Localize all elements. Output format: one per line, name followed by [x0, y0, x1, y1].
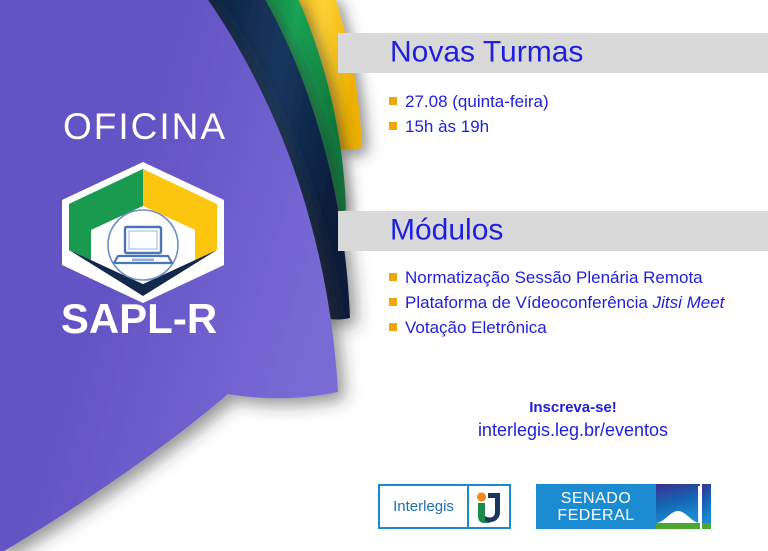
- list-item: 27.08 (quinta-feira): [389, 89, 549, 114]
- interlegis-wordmark-cell: Interlegis: [380, 486, 467, 527]
- interlegis-wordmark: Interlegis: [393, 498, 454, 515]
- cta-url[interactable]: interlegis.leg.br/eventos: [378, 418, 768, 442]
- modulos-list: Normatização Sessão Plenária Remota Plat…: [389, 265, 724, 340]
- sapl-r-wordmark: SAPL-R: [0, 298, 278, 340]
- list-item-label: 15h às 19h: [405, 117, 489, 136]
- list-item-label: Plataforma de Vídeoconferência: [405, 293, 653, 312]
- poster-canvas: OFICINA SAPL-R Novas Turmas 27.08 (quint…: [0, 0, 768, 551]
- list-item-label: Votação Eletrônica: [405, 318, 547, 337]
- senado-wordmark-cell: SENADO FEDERAL: [536, 484, 656, 529]
- cta-headline: Inscreva-se!: [378, 398, 768, 418]
- list-item: Plataforma de Vídeoconferência Jitsi Mee…: [389, 290, 724, 315]
- section-title-novas-turmas: Novas Turmas: [390, 35, 583, 69]
- list-item: Votação Eletrônica: [389, 315, 724, 340]
- bullet-square-icon: [389, 298, 397, 306]
- senado-mark-cell: [656, 484, 711, 529]
- section-header-novas-turmas: Novas Turmas: [338, 33, 768, 73]
- bullet-square-icon: [389, 273, 397, 281]
- section-header-modulos: Módulos: [338, 211, 768, 251]
- bullet-square-icon: [389, 122, 397, 130]
- list-item-emphasis: Jitsi Meet: [653, 293, 725, 312]
- oficina-kicker: OFICINA: [0, 108, 290, 145]
- laptop-hexagon-icon: [58, 160, 228, 305]
- list-item-label: 27.08 (quinta-feira): [405, 92, 549, 111]
- list-item: Normatização Sessão Plenária Remota: [389, 265, 724, 290]
- novas-turmas-list: 27.08 (quinta-feira) 15h às 19h: [389, 89, 549, 139]
- senado-line-2: FEDERAL: [557, 507, 634, 524]
- interlegis-logo: Interlegis: [378, 484, 511, 529]
- logo-row: Interlegis SENADO FEDERAL: [378, 484, 718, 530]
- bullet-square-icon: [389, 323, 397, 331]
- cta-block: Inscreva-se! interlegis.leg.br/eventos: [378, 398, 768, 442]
- bullet-square-icon: [389, 97, 397, 105]
- section-title-modulos: Módulos: [390, 213, 503, 247]
- senado-line-1: SENADO: [561, 490, 632, 507]
- list-item: 15h às 19h: [389, 114, 549, 139]
- senado-building-icon: [656, 484, 711, 529]
- list-item-label: Normatização Sessão Plenária Remota: [405, 268, 703, 287]
- senado-federal-logo: SENADO FEDERAL: [536, 484, 711, 529]
- interlegis-j-icon: [474, 491, 504, 523]
- ribbon-green: [232, 0, 346, 212]
- interlegis-mark-cell: [467, 486, 509, 527]
